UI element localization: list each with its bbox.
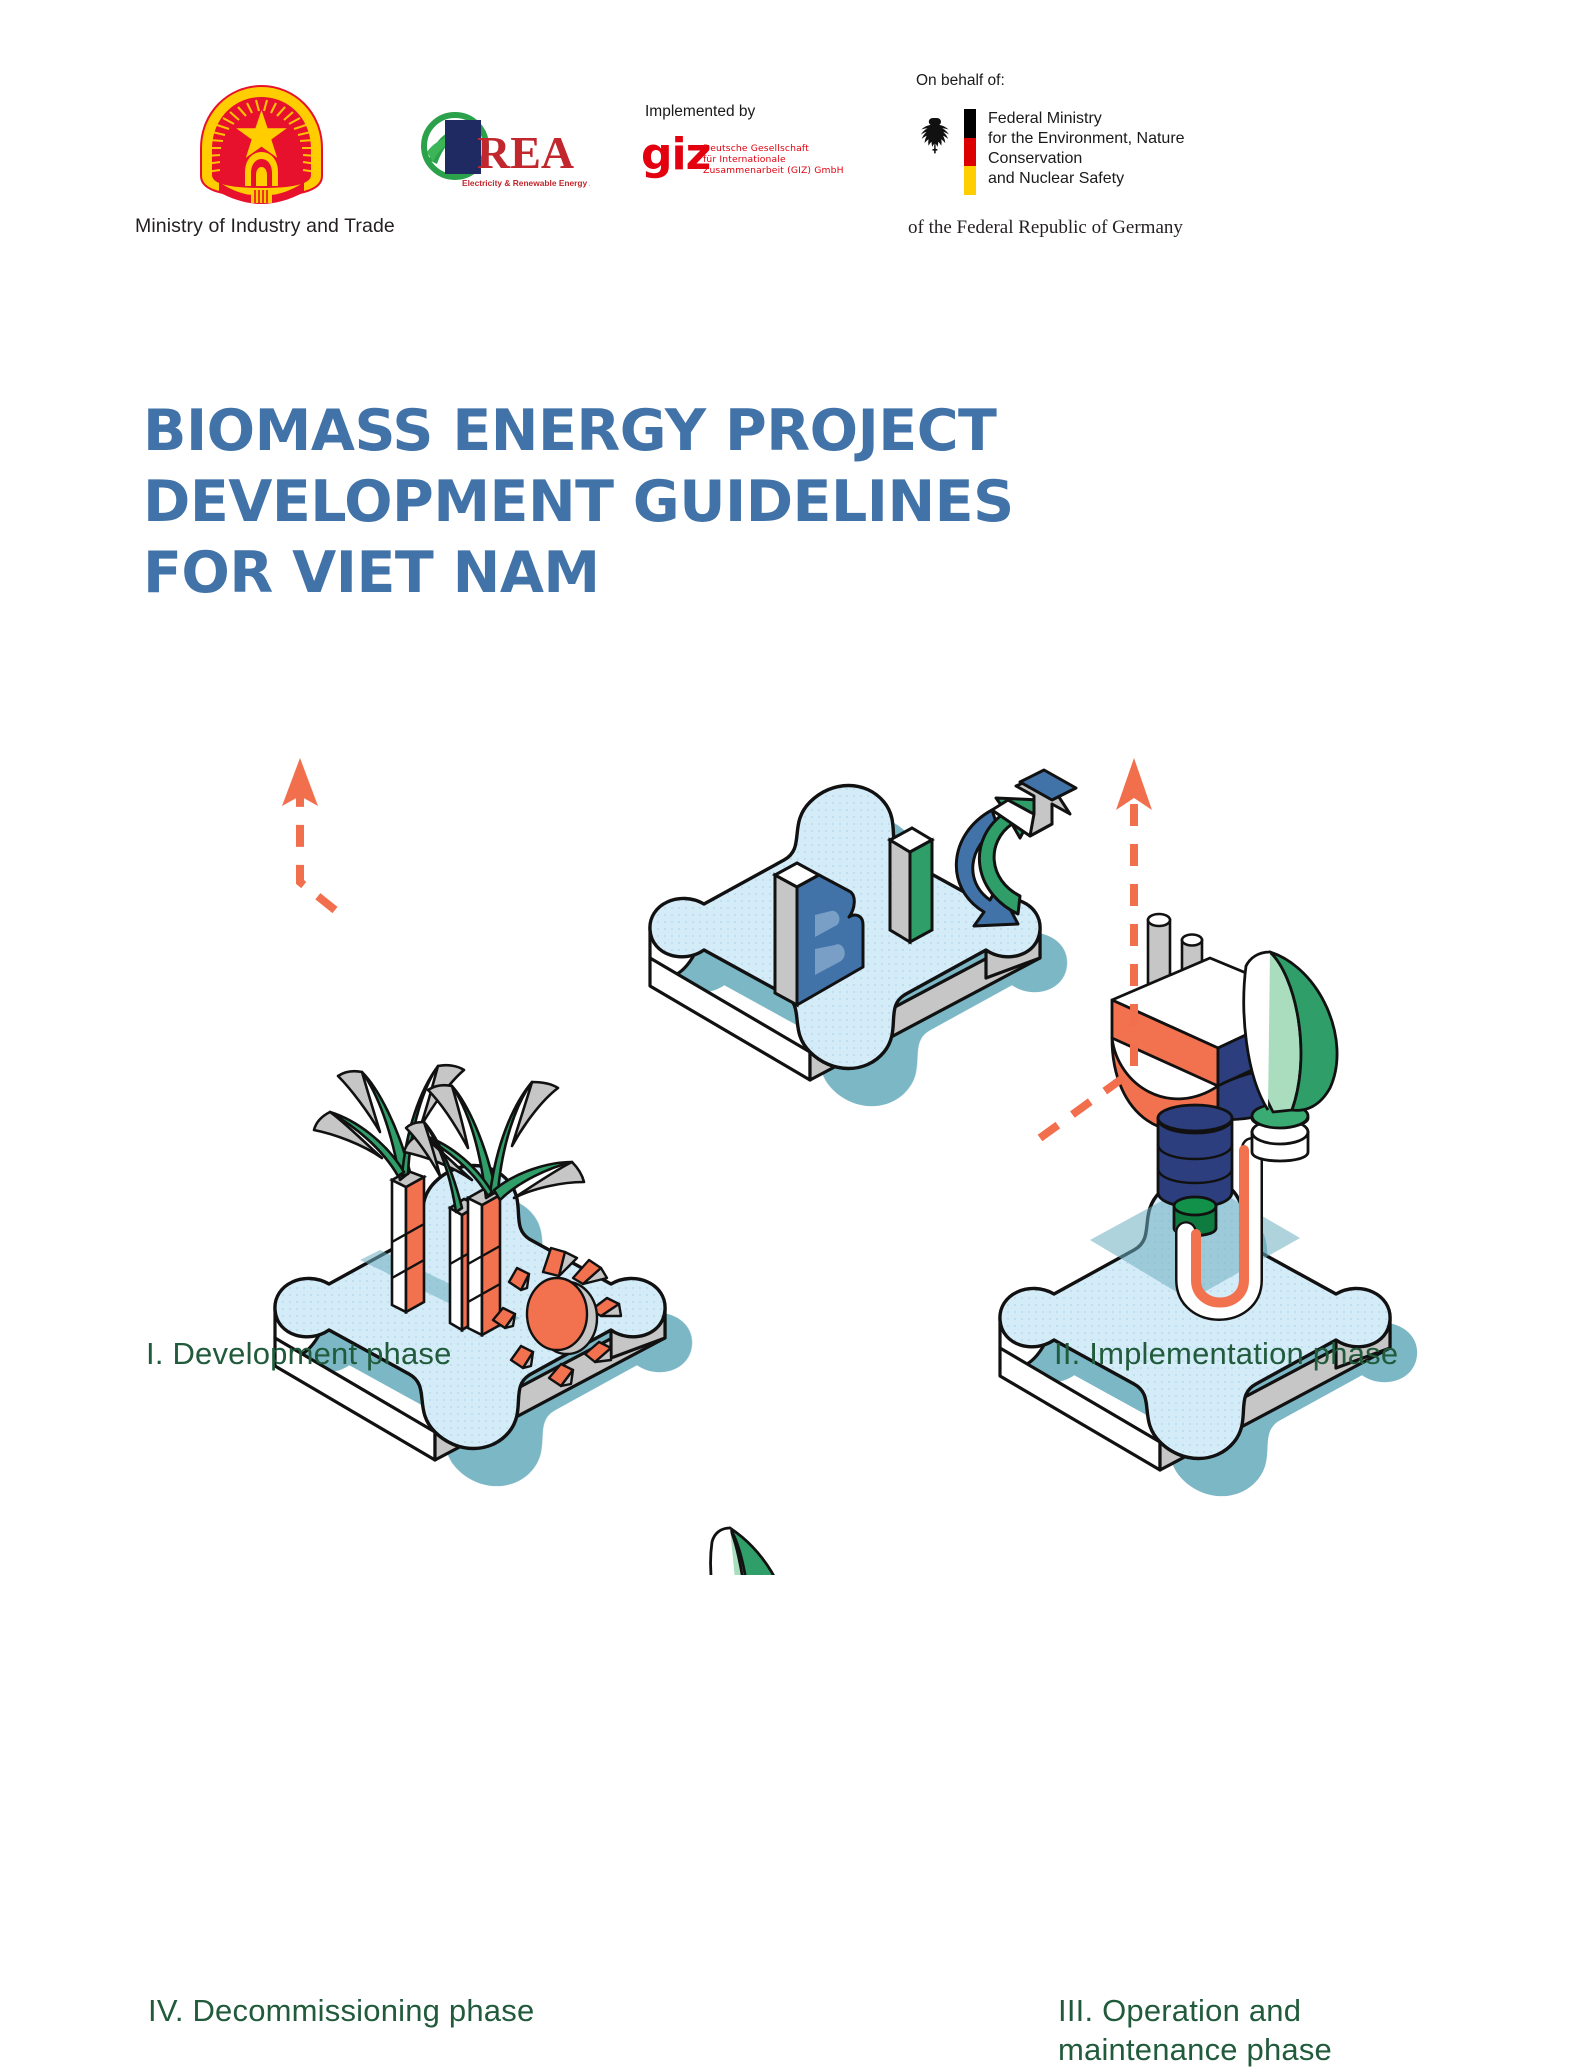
implemented-by-label: Implemented by [645,103,755,121]
title-line-1: BIOMASS ENERGY PROJECT [143,396,1143,467]
german-federal-eagle-icon [912,113,954,155]
erea-wordmark: REA [477,127,574,178]
bmu-line-3: and Nuclear Safety [988,169,1242,189]
tree-on-soil-icon [635,1528,865,1575]
page-title: BIOMASS ENERGY PROJECT DEVELOPMENT GUIDE… [143,396,1143,609]
puzzle-piece-decommissioning [635,1528,1030,1575]
logo-row: Ministry of Industry and Trade REA Elect… [0,0,1575,260]
arrow-to-development [282,758,335,910]
erea-logo-icon: REA Electricity & Renewable Energy Autho… [415,108,590,192]
german-ministry-name: Federal Ministry for the Environment, Na… [988,109,1242,189]
bmu-line-1: Federal Ministry [988,109,1242,129]
phase-cycle-diagram: I. Development phase II. Implementation … [0,620,1575,1575]
recycle-arrows-icon [956,770,1076,926]
giz-sub-line-3: Zusammenarbeit (GIZ) GmbH [703,166,844,177]
giz-logo: giz Deutsche Gesellschaft für Internatio… [641,133,851,193]
giz-wordmark: giz [641,133,710,177]
german-ministry-logo: Federal Ministry for the Environment, Na… [912,105,1242,195]
erea-tagline: Electricity & Renewable Energy Authority [462,178,590,188]
puzzle-piece-development [275,1065,665,1460]
phase-label-development: I. Development phase [146,1334,452,1373]
puzzle-illustration [0,620,1575,1575]
bmu-line-2: for the Environment, Nature Conservation [988,129,1242,169]
ministry-caption: Ministry of Industry and Trade [135,215,455,238]
title-line-2: DEVELOPMENT GUIDELINES [143,467,1143,538]
vietnam-national-emblem-icon [193,80,330,208]
giz-subtitle: Deutsche Gesellschaft für Internationale… [703,144,844,176]
on-behalf-of-label: On behalf of: [916,72,1005,90]
poster-cover: Ministry of Industry and Trade REA Elect… [0,0,1575,1575]
title-line-3: FOR VIET NAM [143,538,1143,609]
phase-label-implementation: II. Implementation phase [1054,1334,1398,1373]
phase-label-decommissioning: IV. Decommissioning phase [148,1991,534,2030]
german-flag-bar-icon [964,109,976,195]
phase-label-operation: III. Operation and maintenance phase [1058,1991,1332,2069]
giz-sub-line-2: für Internationale [703,155,844,166]
biomass-power-plant-icon [1090,914,1337,1310]
puzzle-piece-bio [650,770,1076,1080]
federal-republic-caption: of the Federal Republic of Germany [908,217,1183,239]
